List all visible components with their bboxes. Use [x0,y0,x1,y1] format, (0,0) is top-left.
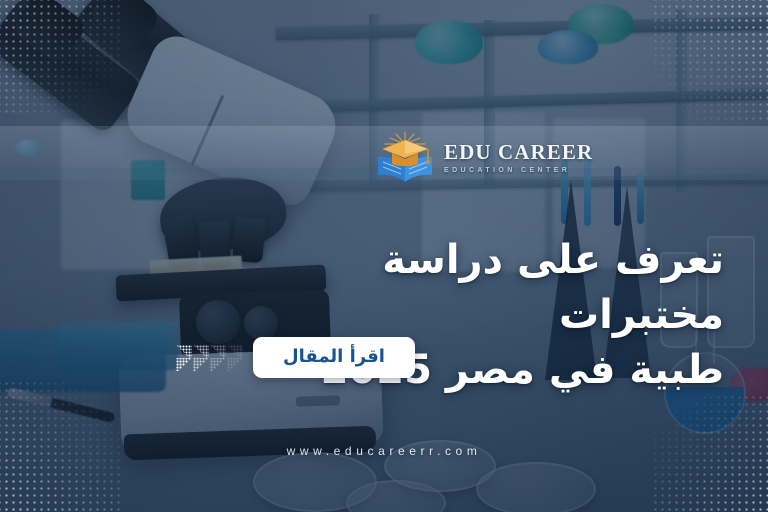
brand-tagline: EDUCATION CENTER [444,167,593,174]
brand-logo[interactable]: EDU CAREER EDUCATION CENTER [374,132,593,184]
promo-banner: EDU CAREER EDUCATION CENTER تعرف على درا… [0,0,768,512]
headline-line-1: تعرف على دراسة مختبرات [382,237,724,338]
graduation-cap-over-open-book-icon [374,132,436,184]
brand-name: EDU CAREER [444,142,593,163]
site-url: www.educareerr.com [0,444,768,458]
chevron-left-icon [210,345,226,371]
chevron-left-icon [227,345,243,371]
chevron-left-icon [193,345,209,371]
read-article-button[interactable]: اقرأ المقال [253,337,415,378]
chevron-left-icon [176,345,192,371]
chevrons-left-icon [176,345,243,371]
brand-logo-text: EDU CAREER EDUCATION CENTER [444,142,593,174]
cta-row: اقرأ المقال [176,337,415,378]
